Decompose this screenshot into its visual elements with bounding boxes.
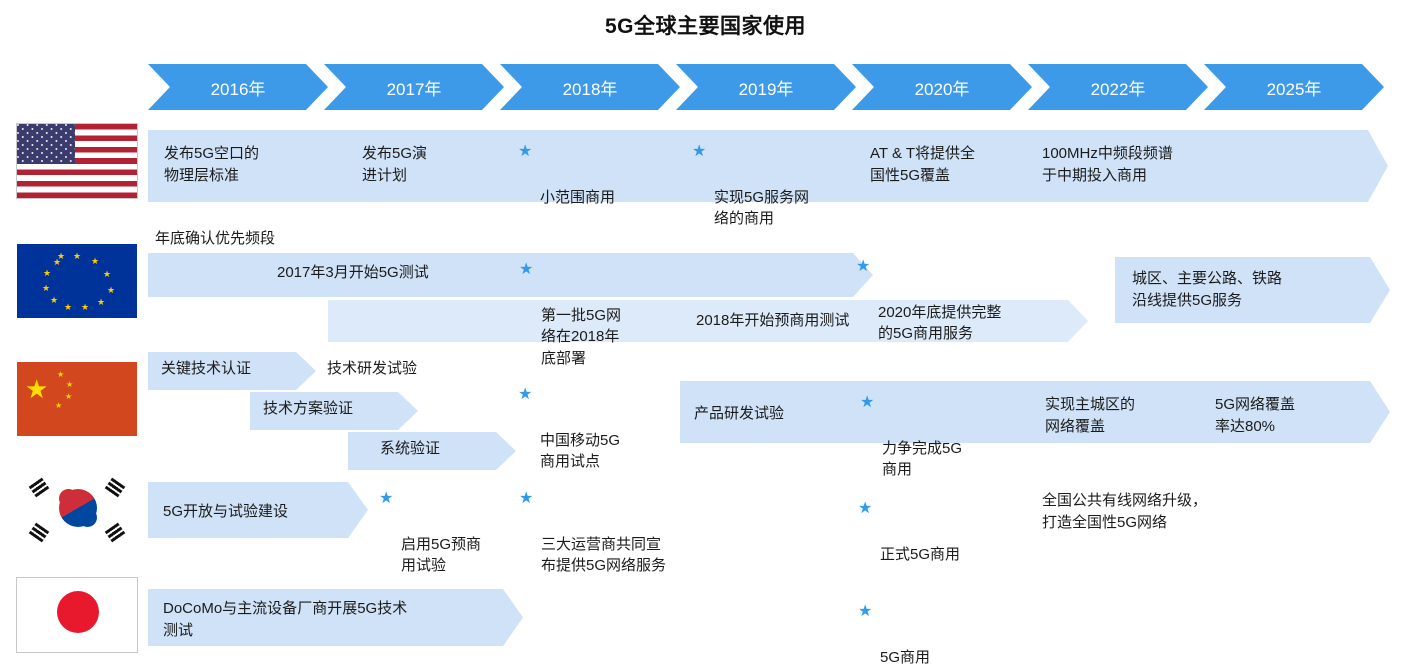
cell-text: 启用5G预商 用试验: [401, 536, 481, 575]
cell-text: 实现5G服务网 络的商用: [714, 189, 809, 228]
year-chevron-2025[interactable]: 2025年: [1204, 64, 1384, 110]
cell-us-2018: ★ 小范围商用: [518, 143, 700, 208]
cell-eu-2025: 城区、主要公路、铁路 沿线提供5G服务: [1132, 268, 1352, 312]
star-icon: ★: [856, 259, 870, 275]
star-icon: ★: [858, 501, 872, 517]
year-label: 2020年: [915, 75, 970, 100]
cell-eu-2016: 年底确认优先频段: [155, 228, 385, 250]
cell-us-2017: 发布5G演 进计划: [362, 143, 512, 187]
cell-cn-2022: 实现主城区的 网络覆盖: [1045, 394, 1205, 438]
cell-cn-2020: ★ 力争完成5G 商用: [860, 394, 1032, 481]
year-chevron-2017[interactable]: 2017年: [324, 64, 504, 110]
cell-cn-2018b: ★ 中国移动5G 商用试点: [518, 386, 690, 473]
cell-eu-2017: 2017年3月开始5G测试: [277, 262, 517, 284]
kr-flag-icon: [17, 473, 137, 547]
star-icon: ★: [519, 262, 533, 278]
cell-text: 中国移动5G 商用试点: [540, 432, 620, 471]
star-icon: ★: [858, 604, 872, 620]
cell-text: 5G商用: [880, 649, 930, 666]
cell-jp-2016: DoCoMo与主流设备厂商开展5G技术 测试: [163, 598, 513, 642]
cell-text: 三大运营商共同宣 布提供5G网络服务: [541, 536, 666, 575]
cell-jp-2020: ★ 5G商用: [858, 603, 1030, 668]
star-icon: ★: [379, 491, 393, 507]
us-flag-icon: [17, 124, 137, 198]
year-label: 2019年: [739, 75, 794, 100]
cell-text: 小范围商用: [540, 189, 615, 206]
cell-text: 力争完成5G 商用: [882, 440, 962, 479]
cell-kr-2016: 5G开放与试验建设: [163, 501, 363, 523]
timeline-year-track: 2016年 2017年 2018年 2019年 2020年 2022年 2025…: [0, 64, 1411, 110]
cell-cn-2017b: 技术方案验证: [263, 398, 423, 420]
year-chevron-2018[interactable]: 2018年: [500, 64, 680, 110]
cell-cn-2018a: 系统验证: [380, 438, 540, 460]
star-icon: ★: [860, 395, 874, 411]
cell-text: 2020年底提供完整 的5G商用服务: [878, 304, 1001, 343]
cell-kr-2022: 全国公共有线网络升级， 打造全国性5G网络: [1042, 490, 1282, 534]
star-icon: ★: [518, 387, 532, 403]
year-label: 2025年: [1267, 75, 1322, 100]
cell-kr-2017: ★ 启用5G预商 用试验: [379, 490, 536, 577]
cell-cn-2016a: 关键技术认证: [161, 358, 321, 380]
year-chevron-2020[interactable]: 2020年: [852, 64, 1032, 110]
page-title: 5G全球主要国家使用: [0, 10, 1411, 40]
jp-flag-icon: [17, 578, 137, 652]
year-label: 2016年: [211, 75, 266, 100]
cell-us-2020: AT & T将提供全 国性5G覆盖: [870, 143, 1035, 187]
cell-text: 正式5G商用: [880, 546, 960, 563]
cell-cn-2025: 5G网络覆盖 率达80%: [1215, 394, 1380, 438]
cell-kr-2018: ★ 三大运营商共同宣 布提供5G网络服务: [519, 490, 756, 577]
year-chevron-2022[interactable]: 2022年: [1028, 64, 1208, 110]
year-label: 2017年: [387, 75, 442, 100]
year-label: 2022年: [1091, 75, 1146, 100]
cell-us-2022: 100MHz中频段频谱 于中期投入商用: [1042, 143, 1257, 187]
cell-us-2016: 发布5G空口的 物理层标准: [164, 143, 334, 187]
year-label: 2018年: [563, 75, 618, 100]
infographic-canvas: 5G全球主要国家使用 2016年 2017年 2018年 2019年 2020年…: [0, 0, 1411, 671]
cell-eu-2018: ★ 第一批5G网 络在2018年 底部署: [519, 261, 691, 370]
cell-us-2019: ★ 实现5G服务网 络的商用: [692, 143, 874, 230]
year-chevron-2016[interactable]: 2016年: [148, 64, 328, 110]
cell-cn-2017a: 技术研发试验: [327, 358, 487, 380]
cell-cn-2019: 产品研发试验: [694, 403, 854, 425]
cell-eu-2020: ★ 2020年底提供完整 的5G商用服务: [856, 258, 1093, 345]
star-icon: ★: [519, 491, 533, 507]
star-icon: ★: [692, 144, 706, 160]
cn-flag-icon: ★ ★ ★ ★ ★: [17, 362, 137, 436]
star-icon: ★: [518, 144, 532, 160]
year-chevron-2019[interactable]: 2019年: [676, 64, 856, 110]
cell-text: 第一批5G网 络在2018年 底部署: [541, 307, 621, 368]
eu-flag-icon: ★ ★ ★ ★ ★ ★ ★ ★ ★ ★ ★ ★: [17, 244, 137, 318]
cell-kr-2020: ★ 正式5G商用: [858, 500, 1040, 565]
